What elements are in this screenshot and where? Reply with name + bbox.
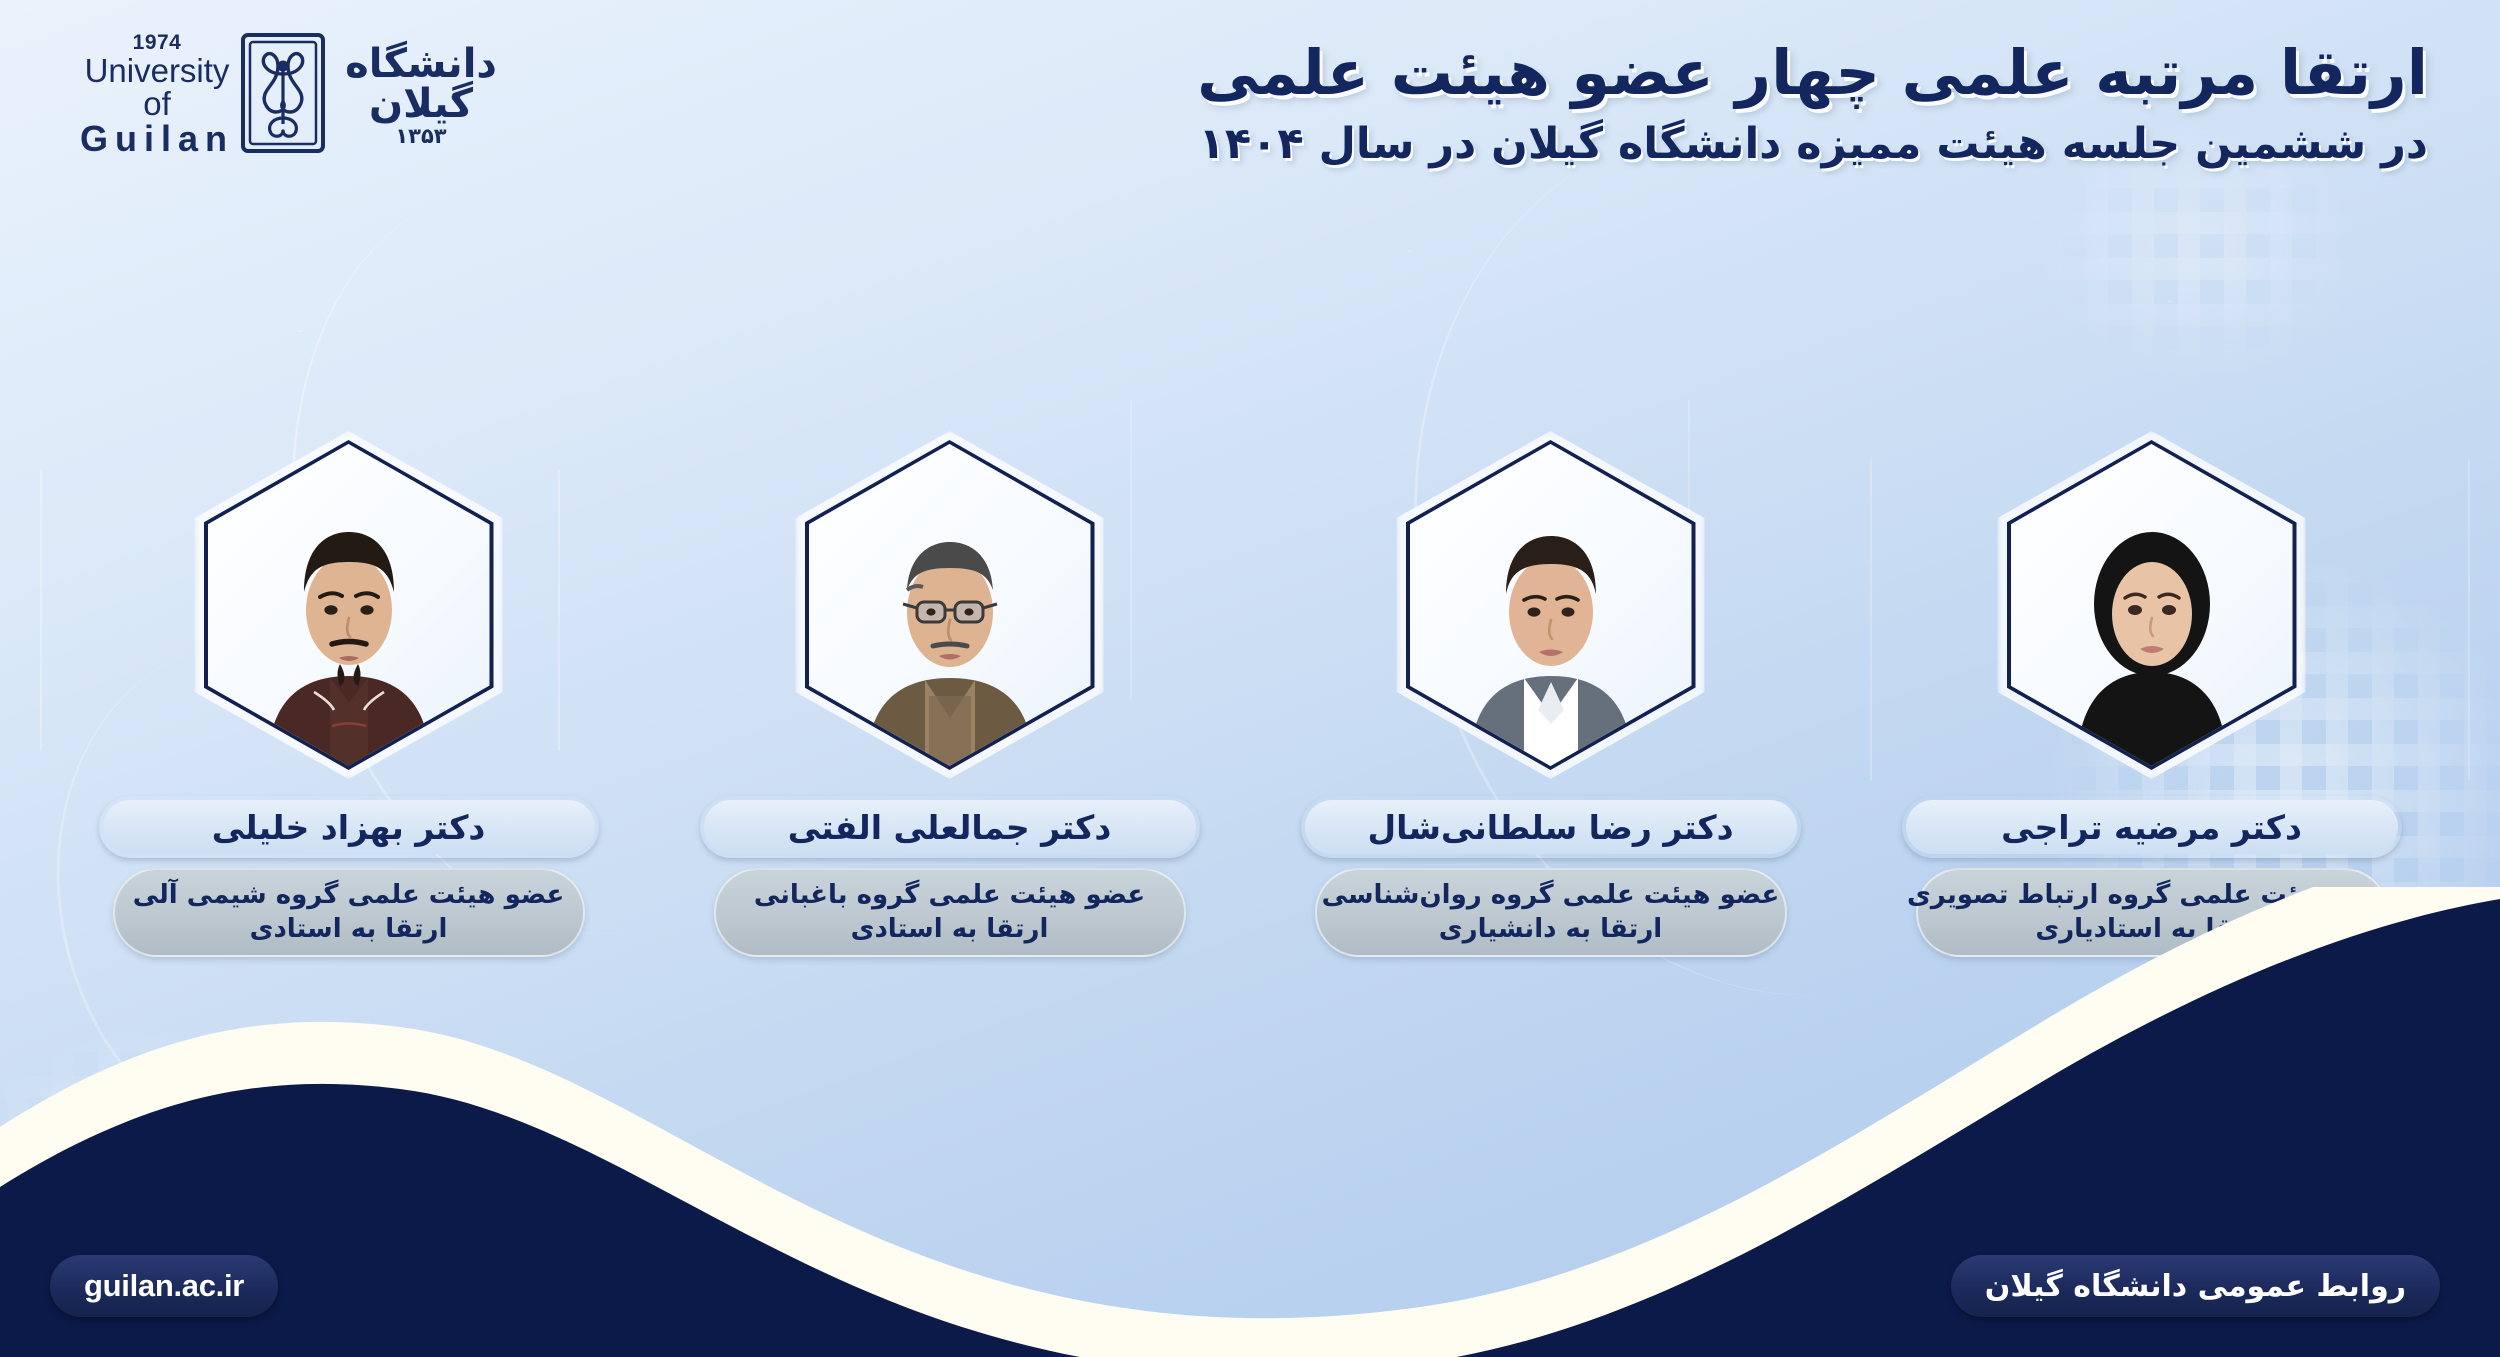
avatar bbox=[204, 440, 494, 770]
faculty-name-pill: دکتر جمالعلی الفتی bbox=[700, 796, 1200, 858]
faculty-name: دکتر رضا سلطانی‌شال bbox=[1367, 808, 1733, 847]
avatar bbox=[1406, 440, 1696, 770]
portrait-photo-marzieh-taraji bbox=[2047, 486, 2257, 766]
faculty-card[interactable]: دکتر مرضیه تراجی عضو هیئت علمی گروه ارتب… bbox=[1872, 440, 2432, 957]
headline-block: ارتقا مرتبه علمی چهار عضو هیئت علمی در ش… bbox=[1008, 36, 2428, 171]
portrait-photo-reza-soltanishal bbox=[1446, 486, 1656, 766]
logo-university-word: University of bbox=[80, 54, 234, 121]
university-logo: 1974 University of Guilan دانشگاه گیلان … bbox=[80, 30, 510, 160]
poster-canvas: 1974 University of Guilan دانشگاه گیلان … bbox=[0, 0, 2500, 1357]
faculty-card[interactable]: دکتر رضا سلطانی‌شال عضو هیئت علمی گروه ر… bbox=[1271, 440, 1831, 957]
faculty-name: دکتر مرضیه تراجی bbox=[2001, 808, 2302, 847]
faculty-name-pill: دکتر مرضیه تراجی bbox=[1902, 796, 2402, 858]
website-pill[interactable]: guilan.ac.ir bbox=[50, 1255, 278, 1317]
logo-founding-year-en: 1974 bbox=[80, 32, 234, 53]
page-subtitle: در ششمین جلسه هیئت ممیزه دانشگاه گیلان د… bbox=[1008, 119, 2428, 171]
avatar bbox=[2007, 440, 2297, 770]
faculty-name-pill: دکتر بهزاد خلیلی bbox=[99, 796, 599, 858]
avatar bbox=[805, 440, 1095, 770]
logo-persian-text: دانشگاه گیلان ۱۳۵۳ bbox=[332, 44, 510, 147]
faculty-name: دکتر جمالعلی الفتی bbox=[788, 808, 1112, 847]
logo-english-text: 1974 University of Guilan bbox=[80, 32, 234, 157]
guilan-university-emblem-icon bbox=[240, 32, 326, 158]
portrait-photo-behzad-khalili bbox=[244, 486, 454, 766]
website-url: guilan.ac.ir bbox=[84, 1268, 244, 1304]
public-relations-label: روابط عمومی دانشگاه گیلان bbox=[1985, 1269, 2406, 1304]
logo-founding-year-fa: ۱۳۵۳ bbox=[332, 126, 510, 147]
public-relations-pill[interactable]: روابط عمومی دانشگاه گیلان bbox=[1951, 1255, 2440, 1317]
page-title: ارتقا مرتبه علمی چهار عضو هیئت علمی bbox=[1008, 36, 2428, 109]
portrait-photo-jamalali-olfati bbox=[845, 486, 1055, 766]
logo-guilan-word: Guilan bbox=[80, 121, 234, 158]
logo-university-name-fa: دانشگاه گیلان bbox=[332, 44, 510, 124]
faculty-card[interactable]: دکتر جمالعلی الفتی عضو هیئت علمی گروه با… bbox=[670, 440, 1230, 957]
faculty-name: دکتر بهزاد خلیلی bbox=[212, 808, 486, 847]
faculty-card[interactable]: دکتر بهزاد خلیلی عضو هیئت علمی گروه شیمی… bbox=[69, 440, 629, 957]
faculty-list: دکتر مرضیه تراجی عضو هیئت علمی گروه ارتب… bbox=[0, 440, 2500, 957]
faculty-name-pill: دکتر رضا سلطانی‌شال bbox=[1301, 796, 1801, 858]
